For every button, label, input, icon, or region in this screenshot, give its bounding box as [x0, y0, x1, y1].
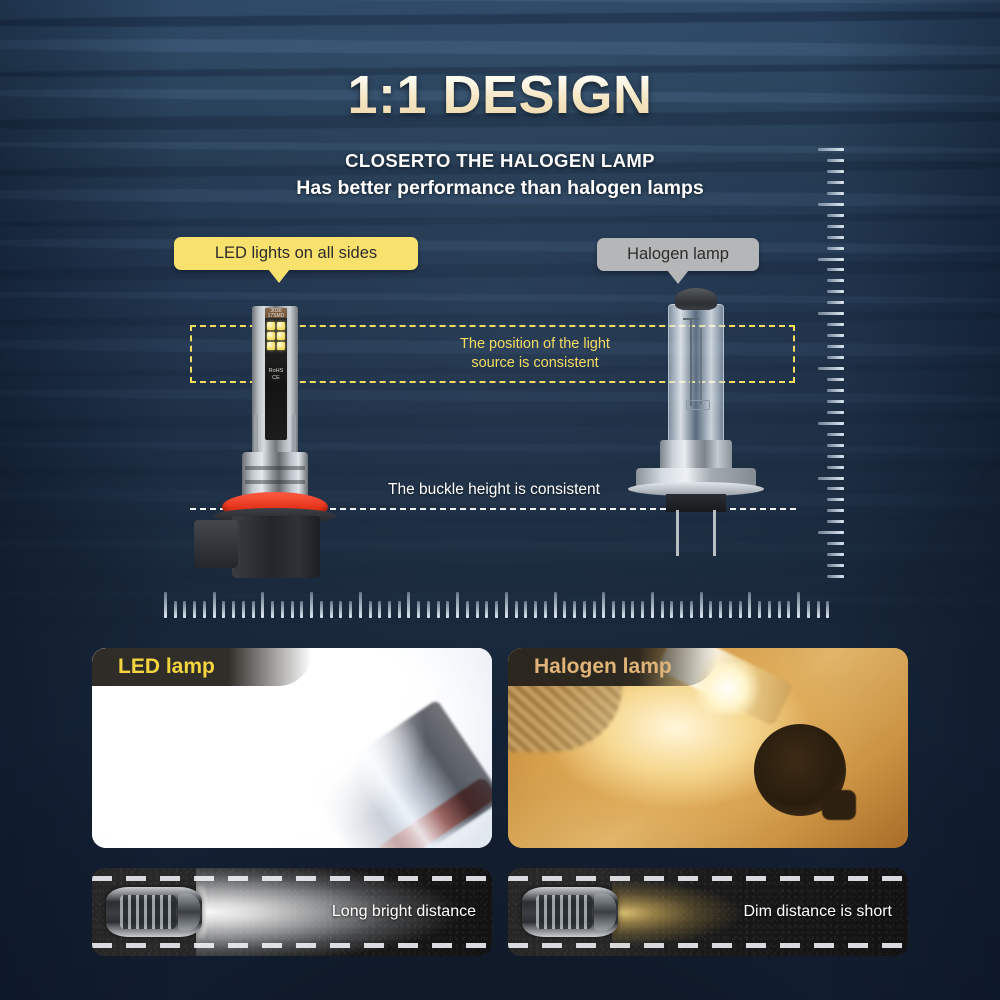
ruler-tick [748, 592, 751, 618]
ruler-tick [271, 601, 274, 618]
ruler-tick [709, 601, 712, 618]
ruler-tick [680, 601, 683, 618]
led-socket-base [232, 516, 320, 578]
background-wave-band [0, 260, 1000, 282]
ruler-tick [456, 592, 459, 618]
ruler-tick [349, 601, 352, 618]
ruler-tick [593, 601, 596, 618]
ruler-tick [281, 601, 284, 618]
ruler-tick [291, 601, 294, 618]
ruler-tick [797, 592, 800, 618]
ruler-tick [544, 601, 547, 618]
ruler-tick [827, 301, 844, 304]
ruler-tick [252, 601, 255, 618]
ruler-tick [827, 487, 844, 490]
ruler-tick [818, 203, 844, 206]
ruler-tick [476, 601, 479, 618]
halogen-stem-closeup [822, 790, 856, 820]
horizontal-ruler [164, 590, 836, 618]
led-chip [267, 322, 275, 330]
ruler-tick [818, 531, 844, 534]
vertical-ruler [818, 148, 844, 586]
background-wave-band [0, 38, 1000, 58]
background-wave-band [0, 441, 1000, 455]
ruler-tick [818, 422, 844, 425]
ruler-tick [827, 170, 844, 173]
halogen-lamp-photo-panel: Halogen lamp [508, 648, 908, 848]
ruler-tick [222, 601, 225, 618]
led-beam-demo-strip: Long bright distance [92, 868, 492, 956]
ruler-tick [339, 601, 342, 618]
ruler-tick [827, 542, 844, 545]
ruler-tick [827, 247, 844, 250]
background-wave-band [0, 460, 1000, 479]
ruler-tick [827, 268, 844, 271]
ruler-tick [203, 601, 206, 618]
ce-mark: CE [265, 375, 287, 382]
ruler-tick [602, 592, 605, 618]
halogen-filament-wire [690, 320, 692, 406]
halogen-filament-wire [700, 328, 702, 404]
halogen-contact-pin [713, 510, 716, 556]
ruler-tick [446, 601, 449, 618]
background-wave-band [0, 513, 1000, 529]
led-chip-marking-line-2: 17SMD [265, 314, 287, 319]
ruler-tick [827, 389, 844, 392]
ruler-tick [670, 601, 673, 618]
ruler-tick [818, 258, 844, 261]
led-certification-marks: RoHS CE [265, 368, 287, 382]
ruler-tick [827, 509, 844, 512]
callout-led-label: LED lights on all sides [215, 244, 377, 263]
ruler-tick [495, 601, 498, 618]
ruler-tick [300, 601, 303, 618]
ruler-tick [827, 455, 844, 458]
halogen-bulb-product-image [620, 282, 770, 582]
ruler-tick [213, 592, 216, 618]
ruler-tick [807, 601, 810, 618]
ruler-tick [641, 601, 644, 618]
ruler-tick [524, 601, 527, 618]
ruler-tick [378, 601, 381, 618]
ruler-tick [827, 345, 844, 348]
car-topdown-icon [522, 887, 618, 937]
ruler-tick [622, 601, 625, 618]
ruler-tick [818, 148, 844, 151]
background-wave-band [0, 213, 1000, 229]
ruler-tick [388, 601, 391, 618]
ruler-tick [827, 411, 844, 414]
ruler-tick [827, 323, 844, 326]
ruler-tick [729, 601, 732, 618]
ruler-tick [369, 601, 372, 618]
ruler-tick [827, 159, 844, 162]
led-beam-caption: Long bright distance [332, 903, 476, 921]
ruler-tick [739, 601, 742, 618]
callout-led-lights: LED lights on all sides [174, 237, 418, 270]
led-retaining-clip [254, 415, 296, 457]
background-wave-band [0, 238, 1000, 255]
buckle-height-annotation: The buckle height is consistent [388, 481, 600, 499]
ruler-tick [719, 601, 722, 618]
ruler-tick [827, 214, 844, 217]
ruler-tick [417, 601, 420, 618]
background-wave-band [0, 388, 1000, 405]
ruler-tick [827, 192, 844, 195]
ruler-tick [193, 601, 196, 618]
ruler-tick [515, 601, 518, 618]
ruler-tick [827, 575, 844, 578]
callout-halogen-lamp: Halogen lamp [597, 238, 759, 271]
led-chip [267, 332, 275, 340]
background-wave-band [0, 560, 1000, 582]
ruler-tick [827, 520, 844, 523]
ruler-tick [583, 601, 586, 618]
ruler-tick [827, 334, 844, 337]
ruler-tick [690, 601, 693, 618]
background-wave-band [0, 291, 1000, 305]
ruler-tick [651, 592, 654, 618]
ruler-tick [573, 601, 576, 618]
ruler-tick [183, 601, 186, 618]
ruler-tick [534, 601, 537, 618]
ruler-tick [818, 367, 844, 370]
background-wave-band [0, 0, 1000, 4]
ruler-tick [505, 592, 508, 618]
ruler-tick [661, 601, 664, 618]
ruler-tick [827, 498, 844, 501]
ruler-tick [437, 601, 440, 618]
ruler-tick [827, 433, 844, 436]
infographic-canvas: 1:1 DESIGN CLOSERTO THE HALOGEN LAMP Has… [0, 0, 1000, 1000]
ruler-tick [827, 466, 844, 469]
halogen-filament-coil [686, 400, 710, 410]
led-connector-plug [194, 520, 238, 568]
ruler-tick [827, 378, 844, 381]
callout-tail-icon [268, 269, 290, 283]
ruler-tick [827, 279, 844, 282]
ruler-tick [359, 592, 362, 618]
ruler-tick [758, 601, 761, 618]
ruler-tick [826, 601, 829, 618]
ruler-tick [261, 592, 264, 618]
led-chip [277, 322, 285, 330]
ruler-tick [818, 477, 844, 480]
ruler-tick [818, 312, 844, 315]
ruler-tick [320, 601, 323, 618]
background-wave-band [0, 538, 1000, 555]
rohs-mark: RoHS [265, 368, 287, 375]
led-bulb-product-image: 3030 17SMD RoHS CE [180, 300, 360, 590]
callout-halogen-label: Halogen lamp [627, 245, 729, 264]
page-title: 1:1 DESIGN [0, 64, 1000, 126]
ruler-tick [563, 601, 566, 618]
ruler-tick [554, 592, 557, 618]
ruler-tick [827, 236, 844, 239]
halogen-filament-wire [683, 318, 699, 320]
led-chip [277, 342, 285, 350]
ruler-tick [310, 592, 313, 618]
ruler-tick [398, 601, 401, 618]
halogen-beam-demo-strip: Dim distance is short [508, 868, 908, 956]
ruler-tick [242, 601, 245, 618]
subtitle-secondary: Has better performance than halogen lamp… [0, 177, 1000, 200]
led-chip [277, 332, 285, 340]
halogen-beam-caption: Dim distance is short [744, 903, 893, 921]
halogen-panel-tag-label: Halogen lamp [534, 655, 672, 679]
halogen-glass-envelope [668, 304, 724, 444]
ruler-tick [827, 444, 844, 447]
halogen-black-tip [675, 288, 717, 310]
background-wave-band [0, 410, 1000, 432]
ruler-tick [827, 290, 844, 293]
led-chip-marking: 3030 17SMD [265, 309, 287, 319]
ruler-tick [787, 601, 790, 618]
ruler-tick [817, 601, 820, 618]
subtitle-primary: CLOSERTO THE HALOGEN LAMP [0, 150, 1000, 172]
ruler-tick [612, 601, 615, 618]
ruler-tick [232, 601, 235, 618]
ruler-tick [827, 553, 844, 556]
halogen-panel-tag: Halogen lamp [508, 648, 718, 686]
car-topdown-icon [106, 887, 202, 937]
ruler-tick [827, 225, 844, 228]
ruler-tick [174, 601, 177, 618]
ruler-tick [827, 564, 844, 567]
ruler-tick [827, 181, 844, 184]
led-panel-tag: LED lamp [92, 648, 312, 686]
ruler-tick [164, 592, 167, 618]
led-panel-tag-label: LED lamp [118, 655, 215, 679]
ruler-tick [631, 601, 634, 618]
halogen-contact-pin [676, 510, 679, 556]
background-wave-band [0, 10, 1000, 29]
halogen-beam-cone [612, 878, 762, 948]
ruler-tick [485, 601, 488, 618]
ruler-tick [700, 592, 703, 618]
led-chip-array [267, 322, 285, 350]
ruler-tick [330, 601, 333, 618]
ruler-tick [778, 601, 781, 618]
ruler-tick [407, 592, 410, 618]
ruler-tick [827, 356, 844, 359]
led-chip [267, 342, 275, 350]
ruler-tick [466, 601, 469, 618]
ruler-tick [427, 601, 430, 618]
led-lamp-photo-panel: LED lamp [92, 648, 492, 848]
ruler-tick [827, 400, 844, 403]
halogen-base-neck [666, 494, 726, 512]
ruler-tick [768, 601, 771, 618]
